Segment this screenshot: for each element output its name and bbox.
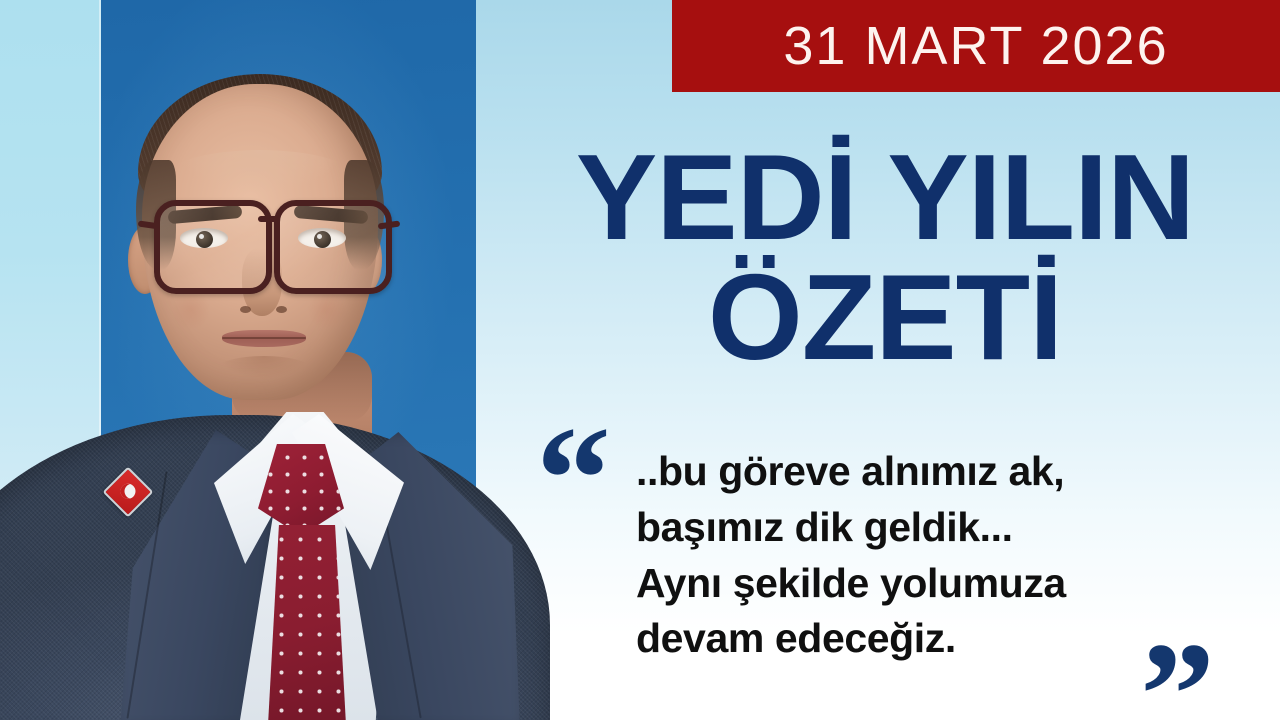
date-banner: 31 MART 2026 <box>672 0 1280 92</box>
left-accent-strip <box>0 0 101 720</box>
poster-canvas: 31 MART 2026 YEDİ YILIN ÖZETİ “ ..bu gör… <box>0 0 1280 720</box>
quote-line: başımız dik geldik... <box>636 500 1256 556</box>
quote-line: ..bu göreve alnımız ak, <box>636 444 1256 500</box>
headline-line-2: ÖZETİ <box>520 258 1250 378</box>
date-text: 31 MART 2026 <box>783 19 1168 73</box>
portrait-backdrop <box>101 0 476 720</box>
quote-close-mark: ” <box>1140 620 1211 720</box>
quote-line: Aynı şekilde yolumuza <box>636 556 1256 612</box>
backdrop-vignette <box>101 0 476 720</box>
quote-open-mark: “ <box>536 404 607 554</box>
headline: YEDİ YILIN ÖZETİ <box>520 138 1250 377</box>
headline-line-1: YEDİ YILIN <box>520 138 1250 258</box>
